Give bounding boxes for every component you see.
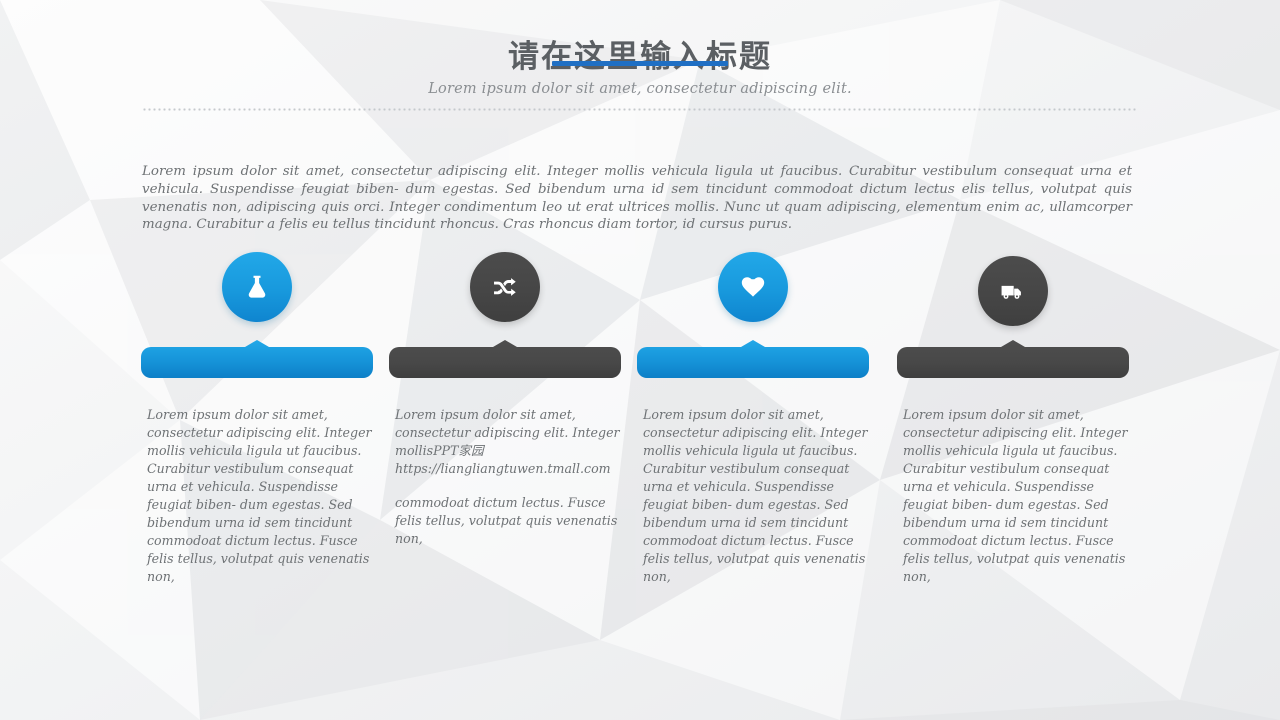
flask-icon: [242, 272, 272, 302]
column-text-4: Lorem ipsum dolor sit amet, consectetur …: [903, 406, 1135, 586]
column-text-1: Lorem ipsum dolor sit amet, consectetur …: [147, 406, 379, 586]
shuffle-icon: [491, 273, 519, 301]
column-body-2a: Lorem ipsum dolor sit amet, consectetur …: [395, 406, 627, 478]
heart-icon: [739, 273, 767, 301]
column-body-1a: Lorem ipsum dolor sit amet, consectetur …: [147, 406, 379, 586]
truck-icon: [999, 277, 1027, 305]
icon-badge-4[interactable]: [978, 256, 1048, 326]
banner-bar-2[interactable]: [389, 340, 621, 378]
content-column-3[interactable]: Lorem ipsum dolor sit amet, consectetur …: [629, 248, 877, 368]
icon-badge-2[interactable]: [470, 252, 540, 322]
page-subtitle: Lorem ipsum dolor sit amet, consectetur …: [0, 81, 1280, 97]
content-column-1[interactable]: Lorem ipsum dolor sit amet, consectetur …: [133, 248, 381, 368]
badge-group-1: [133, 248, 381, 368]
intro-paragraph: Lorem ipsum dolor sit amet, consectetur …: [142, 163, 1132, 234]
page-header: 请在这里输入标题 Lorem ipsum dolor sit amet, con…: [0, 38, 1280, 97]
banner-bar-3[interactable]: [637, 340, 869, 378]
page-title: 请在这里输入标题: [0, 38, 1280, 76]
content-column-4[interactable]: Lorem ipsum dolor sit amet, consectetur …: [889, 248, 1137, 368]
icon-badge-1[interactable]: [222, 252, 292, 322]
column-body-3a: Lorem ipsum dolor sit amet, consectetur …: [643, 406, 875, 586]
banner-bar-1[interactable]: [141, 340, 373, 378]
dotted-divider: [142, 108, 1138, 111]
column-text-3: Lorem ipsum dolor sit amet, consectetur …: [643, 406, 875, 586]
column-body-4a: Lorem ipsum dolor sit amet, consectetur …: [903, 406, 1135, 586]
badge-group-2: [381, 248, 629, 368]
column-text-2: Lorem ipsum dolor sit amet, consectetur …: [395, 406, 627, 548]
badge-group-3: [629, 248, 877, 368]
banner-bar-4[interactable]: [897, 340, 1129, 378]
content-column-2[interactable]: Lorem ipsum dolor sit amet, consectetur …: [381, 248, 629, 368]
icon-badge-3[interactable]: [718, 252, 788, 322]
column-body-2b: commodoat dictum lectus. Fusce felis tel…: [395, 494, 627, 548]
title-accent-bar: [552, 61, 728, 66]
badge-group-4: [889, 248, 1137, 368]
